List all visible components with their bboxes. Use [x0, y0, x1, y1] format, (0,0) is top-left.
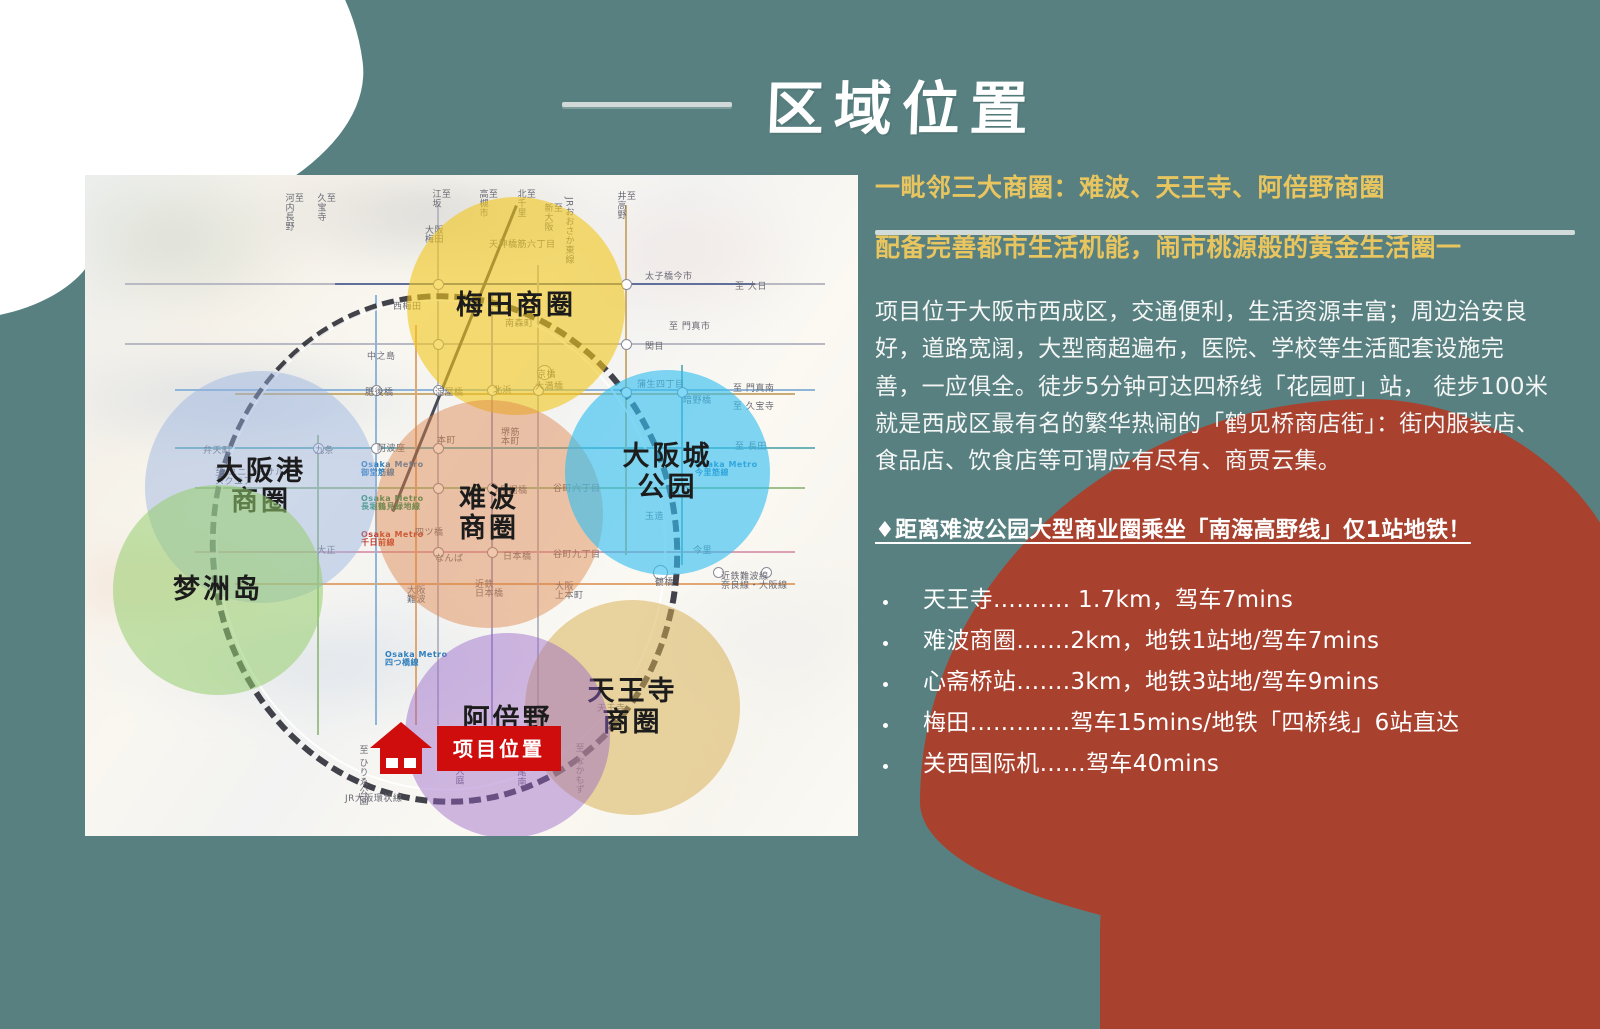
map-station-label: 至 大日 — [735, 283, 767, 292]
title-rule-left — [562, 102, 732, 107]
map-station-label: 至 門真市 — [669, 323, 710, 332]
map-station-label: 中之島 — [367, 353, 396, 362]
map-station-label: 太子橋今市 — [645, 273, 693, 282]
map-zone-label: 梅田商圈 — [456, 291, 576, 321]
house-icon — [369, 720, 433, 776]
page-header: 区域位置 — [0, 62, 1600, 146]
map-zone-label: 公园 — [623, 473, 713, 503]
map-station-label: 至 井高野 — [615, 191, 634, 220]
info-column: 一毗邻三大商圈：难波、天王寺、阿倍野商圈 配备完善都市生活机能，闹市桃源般的黄金… — [875, 168, 1575, 785]
map-station-label: 至 河内長野 — [283, 193, 302, 231]
map-station-label: 関目 — [645, 343, 664, 352]
list-item: 难波商圈…….2km，地铁1站地/驾车7mins — [875, 621, 1575, 662]
map-zone-label: 大阪城 — [623, 442, 713, 472]
map-zone-梅田商圈: 梅田商圈 — [407, 197, 625, 415]
map-station-label: 至 門真南 — [733, 385, 774, 394]
map-station-label: 至 久宝寺 — [315, 193, 334, 222]
map-zone-label: 商圈 — [459, 514, 519, 544]
project-location-label: 项目位置 — [437, 726, 561, 771]
highlight-note: ♦距离难波公园大型商业圈乘坐「南海高野线」仅1站地铁！ — [875, 512, 1575, 544]
list-item: 天王寺………. 1.7km，驾车7mins — [875, 580, 1575, 621]
map-station-label: 近鉄難波線 奈良線・大阪線 — [721, 573, 788, 592]
map-zone-难波商圈: 难波商圈 — [375, 400, 603, 628]
map-station-label: 至 江坂 — [430, 189, 449, 208]
project-location-marker[interactable]: 项目位置 — [369, 720, 561, 776]
map-zone-label: 梦洲岛 — [173, 575, 263, 605]
distance-list: 天王寺………. 1.7km，驾车7mins难波商圈…….2km，地铁1站地/驾车… — [875, 580, 1575, 785]
area-map-panel: 至 江坂至 北千里至 高槻市至 井高野至 久宝寺至 河内長野至 新大阪JRおおさ… — [85, 175, 858, 836]
description-paragraph: 项目位于大阪市西成区，交通便利，生活资源丰富；周边治安良好，道路宽阔，大型商超遍… — [875, 294, 1550, 480]
map-zone-大阪城公园: 大阪城公园 — [565, 370, 770, 575]
map-zone-label: 难波 — [459, 484, 519, 514]
map-station-label: 鶴橋 — [655, 579, 674, 588]
map-station-label: 肥後橋 — [365, 389, 394, 398]
map-zone-梦洲岛: 梦洲岛 — [113, 485, 323, 695]
list-item: 心斋桥站…….3km，地铁3站地/驾车9mins — [875, 662, 1575, 703]
map-station-label: JR大阪環状線 — [345, 795, 402, 804]
map-zone-label: 大阪港 — [216, 457, 306, 487]
list-item: 关西国际机……驾车40mins — [875, 744, 1575, 785]
headline-secondary: 配备完善都市生活机能，闹市桃源般的黄金生活圈一 — [875, 228, 1575, 264]
station-dot — [621, 339, 632, 350]
headline-primary: 一毗邻三大商圈：难波、天王寺、阿倍野商圈 — [875, 168, 1575, 204]
list-item: 梅田………….驾车15mins/地铁「四桥线」6站直达 — [875, 703, 1575, 744]
page-title: 区域位置 — [765, 62, 1040, 146]
